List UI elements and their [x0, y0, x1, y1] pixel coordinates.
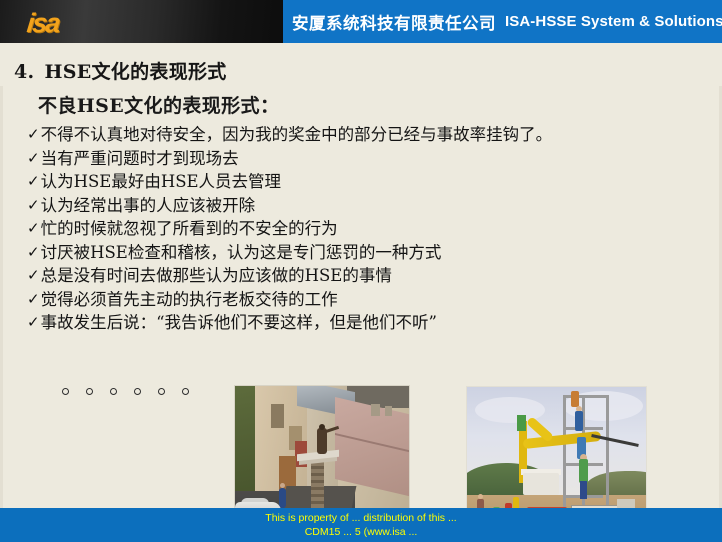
footer-line-2: CDM15 ... 5 (www.isa ... [305, 525, 418, 539]
check-icon: ✓ [27, 123, 40, 147]
section-number: 4. [14, 61, 34, 83]
list-item-label: 总是没有时间去做那些认为应该做的HSE的事情 [41, 264, 392, 288]
list-item-label: 事故发生后说：“我告诉他们不要这样，但是他们不听” [41, 311, 437, 335]
list-item-label: 忙的时候就忽视了所看到的不安全的行为 [41, 217, 338, 241]
list-item: ✓ 当有严重问题时才到现场去 [27, 147, 717, 171]
slide: isa 安厦系统科技有限责任公司 ISA-HSSE System & Solut… [0, 0, 722, 542]
list-item-label: 讨厌被HSE检查和稽核，认为这是专门惩罚的一种方式 [41, 241, 442, 265]
list-item-label: 当有严重问题时才到现场去 [41, 147, 239, 171]
hollow-circle-icon [134, 388, 141, 395]
list-item: ✓ 讨厌被HSE检查和稽核，认为这是专门惩罚的一种方式 [27, 241, 717, 265]
list-item: ✓ 认为HSE最好由HSE人员去管理 [27, 170, 717, 194]
check-icon: ✓ [27, 311, 40, 335]
hollow-circle-icon [62, 388, 69, 395]
footer-line-1: This is property of ... distribution of … [265, 511, 456, 525]
page-subtitle: 不良HSE文化的表现形式： [38, 91, 279, 118]
list-item: ✓ 不得不认真地对待安全，因为我的奖金中的部分已经与事故率挂钩了。 [27, 123, 717, 147]
list-item: ✓ 事故发生后说：“我告诉他们不要这样，但是他们不听” [27, 311, 717, 335]
list-item: ✓ 认为经常出事的人应该被开除 [27, 194, 717, 218]
check-icon: ✓ [27, 264, 40, 288]
check-icon: ✓ [27, 170, 40, 194]
check-icon: ✓ [27, 217, 40, 241]
list-item-label: 觉得必须首先主动的执行老板交待的工作 [41, 288, 338, 312]
section-title: HSE文化的表现形式 [44, 57, 226, 84]
isa-logo-icon: isa [25, 8, 60, 39]
slide-header: isa 安厦系统科技有限责任公司 ISA-HSSE System & Solut… [0, 0, 722, 43]
slide-body: 4. HSE文化的表现形式 不良HSE文化的表现形式： ✓ 不得不认真地对待安全… [0, 43, 722, 542]
list-item: ✓ 忙的时候就忽视了所看到的不安全的行为 [27, 217, 717, 241]
list-item-label: 认为HSE最好由HSE人员去管理 [41, 170, 281, 194]
hollow-circle-icon [158, 388, 165, 395]
hollow-circle-icon [86, 388, 93, 395]
sub-bullet-dots [62, 388, 189, 395]
check-icon: ✓ [27, 288, 40, 312]
page-title: 4. HSE文化的表现形式 [14, 57, 227, 84]
footer-copyright: This is property of ... distribution of … [0, 508, 722, 542]
slide-left-edge [0, 86, 3, 542]
company-name-en: ISA-HSSE System & Solutions Co. LTD [505, 13, 722, 30]
list-item-label: 不得不认真地对待安全，因为我的奖金中的部分已经与事故率挂钩了。 [41, 123, 553, 147]
check-icon: ✓ [27, 241, 40, 265]
check-icon: ✓ [27, 147, 40, 171]
check-icon: ✓ [27, 194, 40, 218]
bullet-list: ✓ 不得不认真地对待安全，因为我的奖金中的部分已经与事故率挂钩了。 ✓ 当有严重… [27, 123, 717, 335]
list-item: ✓ 觉得必须首先主动的执行老板交待的工作 [27, 288, 717, 312]
logo-zone: isa [0, 0, 283, 43]
company-name-cn: 安厦系统科技有限责任公司 [292, 10, 496, 34]
company-title: 安厦系统科技有限责任公司 ISA-HSSE System & Solutions… [292, 0, 722, 43]
list-item: ✓ 总是没有时间去做那些认为应该做的HSE的事情 [27, 264, 717, 288]
hollow-circle-icon [110, 388, 117, 395]
hollow-circle-icon [182, 388, 189, 395]
list-item-label: 认为经常出事的人应该被开除 [41, 194, 256, 218]
